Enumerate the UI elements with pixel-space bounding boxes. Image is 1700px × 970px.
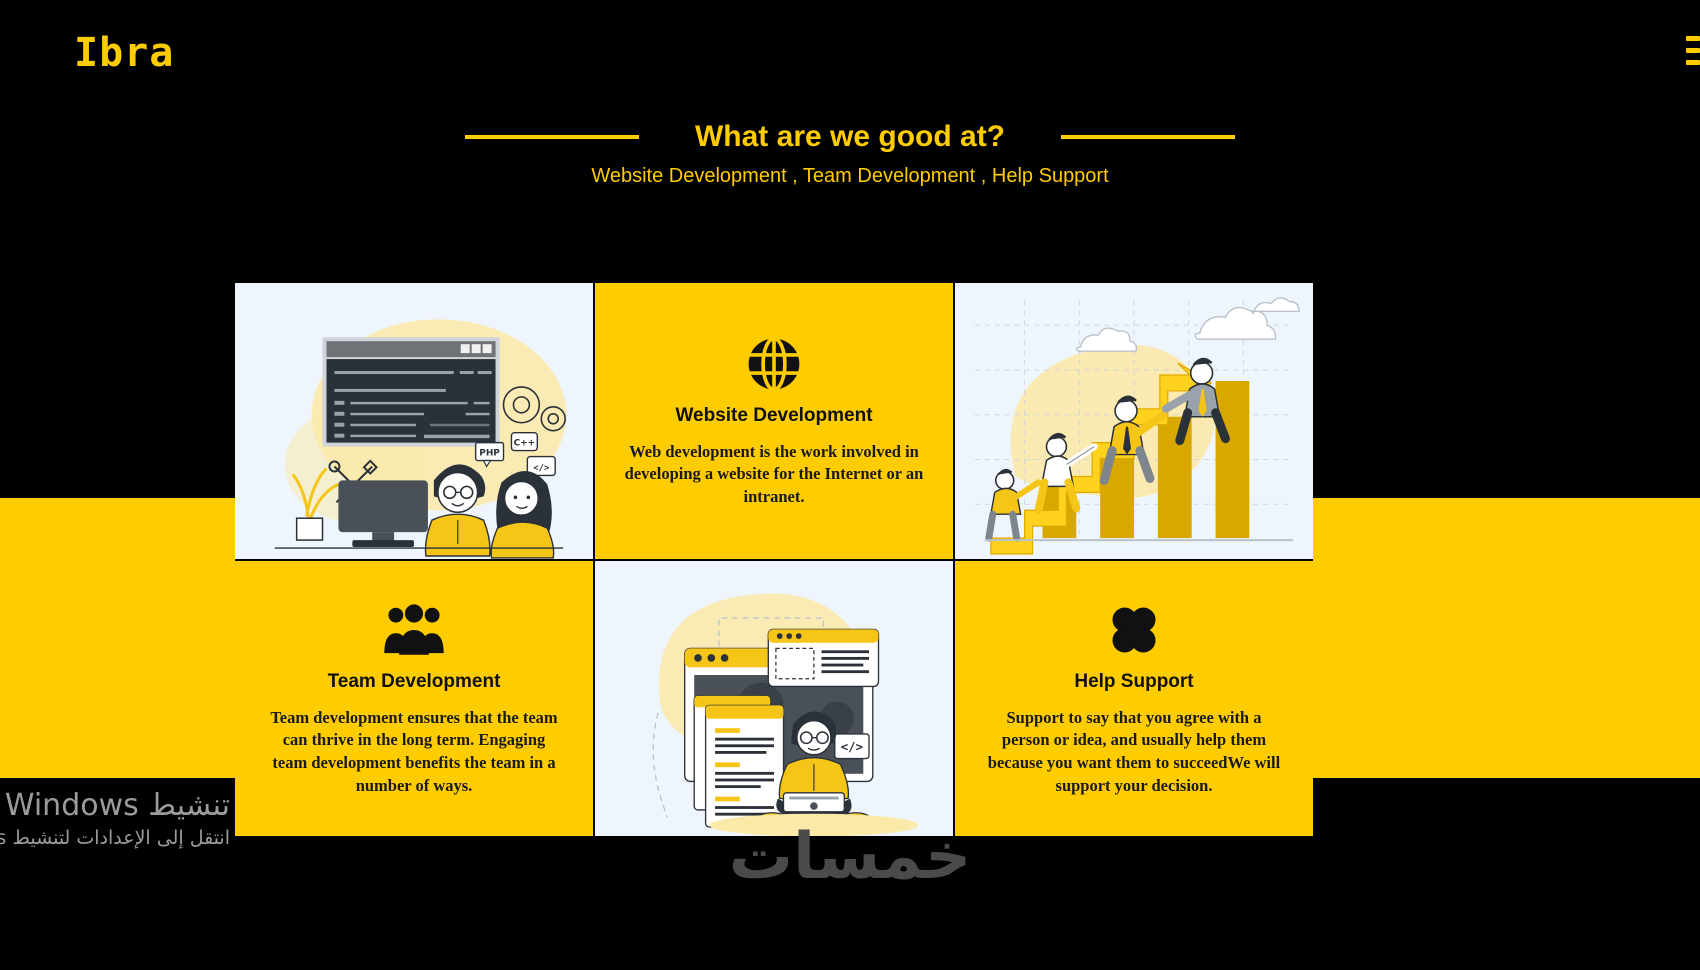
- hamburger-bar: [1686, 48, 1700, 53]
- team-growth-illustration: [955, 283, 1313, 559]
- card-developer-coding-illustration: </>: [595, 561, 953, 837]
- web-development-illustration: PHP C++ </>: [235, 283, 593, 559]
- site-logo[interactable]: Ibra: [74, 33, 174, 73]
- heading-rule-left: [465, 135, 639, 139]
- svg-text:PHP: PHP: [479, 449, 500, 459]
- khamsat-watermark: خمسات: [0, 820, 1700, 894]
- heading-rule-right: [1061, 135, 1235, 139]
- developer-coding-illustration: </>: [595, 561, 953, 837]
- card-title: Help Support: [1074, 671, 1193, 693]
- card-title: Team Development: [328, 671, 501, 693]
- hamburger-bar: [1686, 36, 1700, 41]
- svg-text:</>: </>: [841, 740, 863, 754]
- team-icon: [381, 599, 447, 661]
- services-grid: PHP C++ </>: [235, 283, 1313, 836]
- card-description: Web development is the work involved in …: [624, 441, 924, 509]
- page-root: Ibra What are we good at? Website Develo…: [0, 0, 1700, 970]
- card-website-development[interactable]: Website Development Web development is t…: [595, 283, 953, 559]
- card-title: Website Development: [675, 405, 872, 427]
- clover-support-icon: [1104, 599, 1164, 661]
- card-team-development[interactable]: Team Development Team development ensure…: [235, 561, 593, 837]
- hamburger-bar: [1686, 60, 1700, 65]
- card-description: Team development ensures that the team c…: [264, 707, 564, 798]
- card-description: Support to say that you agree with a per…: [984, 707, 1284, 798]
- page-subtitle: Website Development , Team Development ,…: [0, 165, 1700, 188]
- section-heading: What are we good at?: [0, 120, 1700, 154]
- svg-text:</>: </>: [533, 463, 549, 473]
- card-help-support[interactable]: Help Support Support to say that you agr…: [955, 561, 1313, 837]
- page-title: What are we good at?: [695, 120, 1005, 154]
- svg-text:C++: C++: [514, 439, 536, 449]
- card-team-growth-illustration: [955, 283, 1313, 559]
- hamburger-icon[interactable]: [1686, 36, 1700, 65]
- windows-activation-title: تنشيط Windows: [0, 788, 230, 824]
- globe-icon: [745, 333, 803, 395]
- card-web-development-illustration: PHP C++ </>: [235, 283, 593, 559]
